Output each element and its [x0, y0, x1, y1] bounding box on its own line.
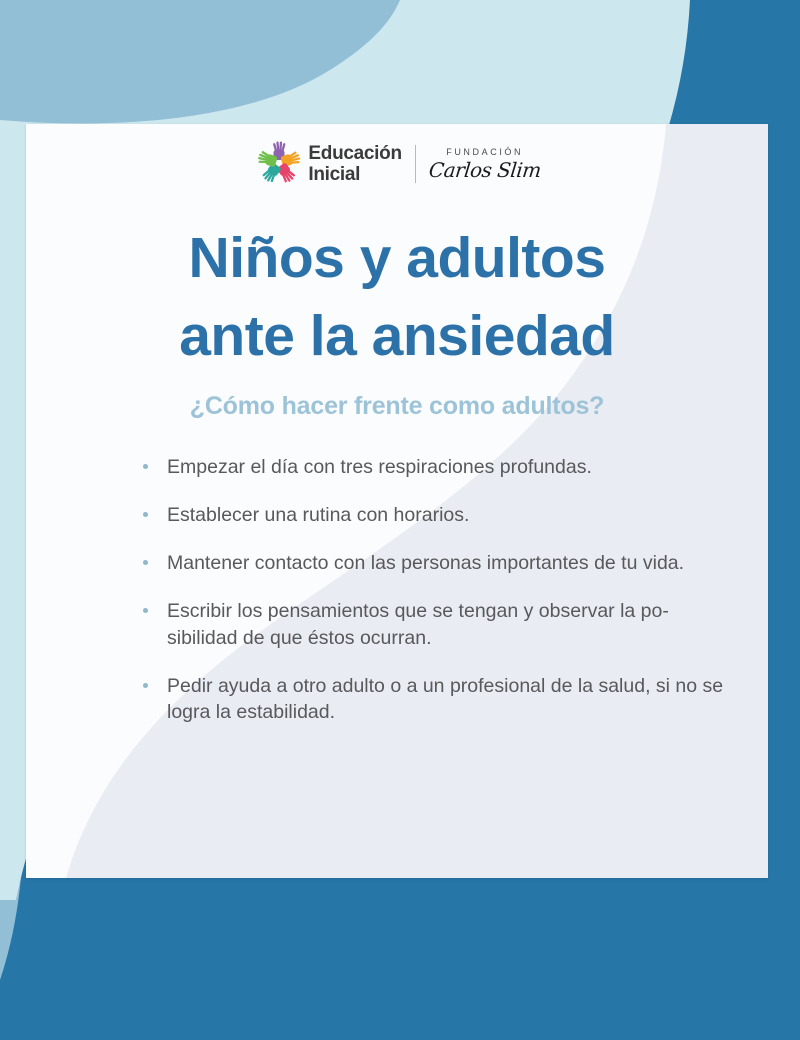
list-item: Establecer una rutina con horarios. — [138, 502, 726, 529]
list-item: Empezar el día con tres respiraciones pr… — [138, 454, 726, 481]
title-line-1: Niños y adultos — [26, 220, 768, 298]
list-item: Pedir ayuda a otro adulto o a un profesi… — [138, 673, 726, 727]
bullet-dot-icon — [143, 683, 148, 688]
content-card: Educación Inicial FUNDACIÓN Carlos Slim … — [26, 124, 768, 878]
page-title: Niños y adultos ante la ansiedad — [26, 220, 768, 375]
poster-root: Educación Inicial FUNDACIÓN Carlos Slim … — [0, 0, 800, 1040]
list-item-text: Pedir ayuda a otro adulto o a un profesi… — [167, 675, 723, 724]
bullet-dot-icon — [143, 608, 148, 613]
foundation-signature: Carlos Slim — [428, 158, 542, 182]
list-item-text: Establecer una rutina con horarios. — [167, 504, 469, 526]
list-item: Mantener contacto con las personas impor… — [138, 550, 726, 577]
foundation-label: FUNDACIÓN — [446, 147, 523, 157]
advice-list: Empezar el día con tres respiraciones pr… — [138, 454, 726, 726]
logo-lockup: Educación Inicial FUNDACIÓN Carlos Slim — [26, 140, 768, 188]
foundation-logo: FUNDACIÓN Carlos Slim — [429, 147, 541, 182]
list-item-text: Escribir los pensamientos que se tengan … — [167, 600, 669, 649]
list-item: Escribir los pensamientos que se tengan … — [138, 598, 726, 652]
bullet-dot-icon — [143, 464, 148, 469]
bullet-dot-icon — [143, 560, 148, 565]
brand-line-1: Educación — [308, 144, 401, 163]
colorful-hands-pinwheel-icon — [253, 140, 305, 188]
logo-divider — [415, 145, 416, 183]
brand-wordmark: Educación Inicial — [308, 144, 401, 184]
page-subtitle: ¿Cómo hacer frente como adultos? — [26, 392, 768, 421]
title-line-2: ante la ansiedad — [26, 298, 768, 376]
brand-line-2: Inicial — [308, 165, 401, 184]
list-item-text: Mantener contacto con las personas impor… — [167, 552, 684, 574]
list-item-text: Empezar el día con tres respiraciones pr… — [167, 456, 592, 478]
bullet-dot-icon — [143, 512, 148, 517]
